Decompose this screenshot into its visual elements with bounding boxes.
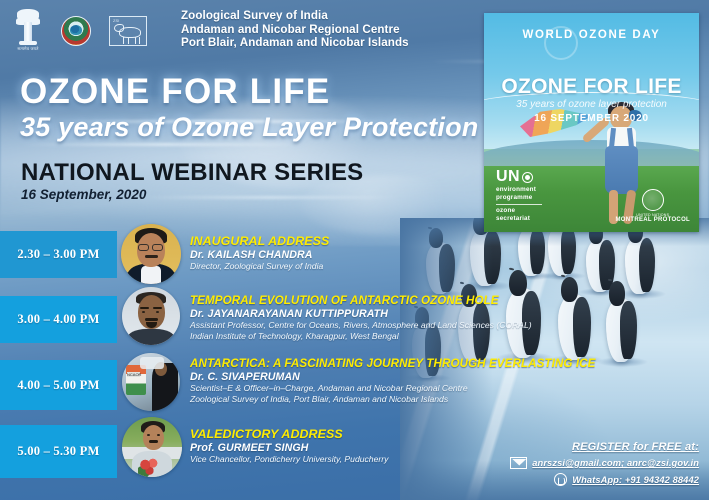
un-line-3: ozone (496, 207, 542, 214)
time-band-4: 5.00 – 5.30 PM (0, 425, 117, 478)
main-subtitle: 35 years of Ozone Layer Protection (20, 112, 478, 143)
organisation-block: Zoological Survey of India Andaman and N… (181, 9, 409, 50)
un-globe-icon (522, 172, 533, 183)
india-emblem-icon: सत्यमेव जयते (13, 9, 43, 53)
register-block: REGISTER for FREE at: anrszsi@gmail.com;… (510, 441, 699, 486)
schedule-row-1[interactable]: 2.30 – 3.00 PM INAUGURAL ADDRESS Dr. KAI… (0, 231, 709, 278)
un-line-4: secretariat (496, 215, 542, 222)
register-whatsapp[interactable]: WhatsApp: +91 94342 88442 (572, 475, 699, 485)
poster-world-ozone-day: WORLD OZONE DAY (484, 29, 699, 41)
time-band-2: 3.00 – 4.00 PM (0, 296, 117, 343)
affiliation-1a: Director, Zoological Survey of India (190, 261, 329, 272)
world-ozone-day-poster-image: WORLD OZONE DAY OZONE FOR LIFE 35 years … (484, 13, 699, 232)
affiliation-3a: Scientist–E & Officer–in–Charge, Andaman… (190, 383, 595, 394)
anrc-logo-label: ZSI (113, 18, 119, 23)
row-text-2: TEMPORAL EVOLUTION OF ANTARCTIC OZONE HO… (190, 294, 532, 342)
affiliation-4a: Vice Chancellor, Pondicherry University,… (190, 454, 388, 465)
webinar-date: 16 September, 2020 (21, 187, 146, 202)
row-text-3: ANTARCTICA: A FASCINATING JOURNEY THROUG… (190, 357, 595, 405)
avatar-c-sivaperuman: NCAOR (122, 353, 180, 411)
mp-name-text: MONTREAL PROTOCOL (615, 217, 690, 223)
poster-tagline: 35 years of ozone layer protection (484, 99, 699, 110)
talk-title-2: TEMPORAL EVOLUTION OF ANTARCTIC OZONE HO… (190, 294, 532, 307)
time-label-1: 2.30 – 3.00 PM (17, 247, 99, 262)
talk-title-3: ANTARCTICA: A FASCINATING JOURNEY THROUG… (190, 357, 595, 370)
register-email[interactable]: anrszsi@gmail.com; anrc@zsi.gov.in (532, 458, 699, 468)
whatsapp-icon (554, 473, 567, 486)
avatar-gurmeet-singh (122, 417, 182, 477)
schedule-row-2[interactable]: 3.00 – 4.00 PM TEMPORAL EVOLUTION OF ANT… (0, 296, 709, 343)
time-band-3: 4.00 – 5.00 PM (0, 360, 117, 410)
main-title: OZONE FOR LIFE (20, 72, 330, 112)
un-environment-programme-logo: UN environment programme ozone secretari… (496, 168, 542, 222)
un-mark-text: UN (496, 168, 520, 186)
zsi-circular-logo-icon (61, 16, 91, 46)
talk-title-4: VALEDICTORY ADDRESS (190, 427, 388, 441)
un-line-2: programme (496, 194, 542, 201)
avatar-jayanarayanan-kuttippurath (122, 287, 180, 345)
speaker-name-2: Dr. JAYANARAYANAN KUTTIPPURATH (190, 308, 532, 320)
speaker-name-1: Dr. KAILASH CHANDRA (190, 249, 329, 261)
speaker-name-3: Dr. C. SIVAPERUMAN (190, 371, 595, 383)
montreal-globe-icon (642, 189, 664, 211)
un-line-1: environment (496, 186, 542, 193)
avatar-kailash-chandra (121, 224, 181, 284)
row-text-4: VALEDICTORY ADDRESS Prof. GURMEET SINGH … (190, 427, 388, 465)
affiliation-2a: Assistant Professor, Centre for Oceans, … (190, 320, 532, 331)
poster-date: 16 SEPTEMBER 2020 (484, 113, 699, 124)
register-email-line[interactable]: anrszsi@gmail.com; anrc@zsi.gov.in (510, 457, 699, 469)
org-line-1: Zoological Survey of India (181, 9, 409, 23)
schedule-row-3[interactable]: 4.00 – 5.00 PM NCAOR ANTARCTICA: A FASCI… (0, 360, 709, 410)
org-line-3: Port Blair, Andaman and Nicobar Islands (181, 36, 409, 50)
webinar-series-title: NATIONAL WEBINAR SERIES (21, 159, 363, 187)
webinar-poster: सत्यमेव जयते ZSI Zoological Survey of In… (0, 0, 709, 500)
org-line-2: Andaman and Nicobar Regional Centre (181, 23, 409, 37)
poster-headline: OZONE FOR LIFE (484, 75, 699, 99)
row-text-1: INAUGURAL ADDRESS Dr. KAILASH CHANDRA Di… (190, 234, 329, 272)
speaker-name-4: Prof. GURMEET SINGH (190, 442, 388, 454)
montreal-protocol-logo: UNITED NATIONS MONTREAL PROTOCOL (615, 189, 690, 223)
email-icon (510, 457, 527, 469)
time-label-3: 4.00 – 5.00 PM (17, 378, 99, 393)
affiliation-3b: Zoological Survey of India, Port Blair, … (190, 394, 595, 405)
register-whatsapp-line[interactable]: WhatsApp: +91 94342 88442 (510, 473, 699, 486)
emblem-motto: सत्यमेव जयते (13, 46, 43, 52)
time-label-2: 3.00 – 4.00 PM (17, 312, 99, 327)
affiliation-2b: Indian Institute of Technology, Kharagpu… (190, 331, 532, 342)
time-label-4: 5.00 – 5.30 PM (17, 444, 99, 459)
time-band-1: 2.30 – 3.00 PM (0, 231, 117, 278)
register-title: REGISTER for FREE at: (510, 441, 699, 453)
anrc-animal-logo-icon: ZSI (109, 16, 147, 46)
logo-row: सत्यमेव जयते ZSI (13, 9, 147, 53)
talk-title-1: INAUGURAL ADDRESS (190, 234, 329, 248)
